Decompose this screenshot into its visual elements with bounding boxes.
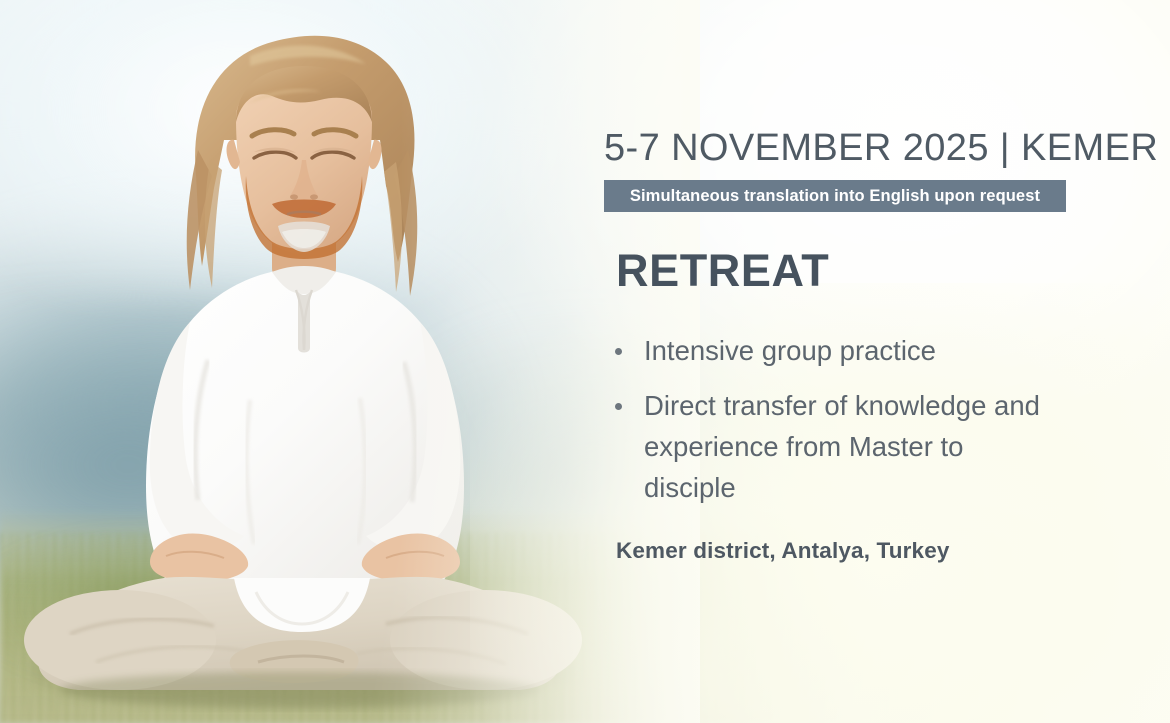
feature-list: Intensive group practice Direct transfer…: [612, 330, 1062, 522]
list-item: Intensive group practice: [612, 330, 1062, 371]
event-date-location: 5-7 NOVEMBER 2025 | KEMER: [604, 127, 1158, 170]
retreat-promo-banner: 5-7 NOVEMBER 2025 | KEMER Simultaneous t…: [0, 0, 1170, 723]
translation-note-text: Simultaneous translation into English up…: [630, 187, 1040, 206]
banner-text-panel: 5-7 NOVEMBER 2025 | KEMER Simultaneous t…: [600, 0, 1160, 723]
list-item: Direct transfer of knowledge and experie…: [612, 385, 1062, 508]
translation-note-badge: Simultaneous translation into English up…: [604, 180, 1066, 212]
event-location: Kemer district, Antalya, Turkey: [616, 538, 950, 564]
page-title: RETREAT: [616, 245, 829, 297]
